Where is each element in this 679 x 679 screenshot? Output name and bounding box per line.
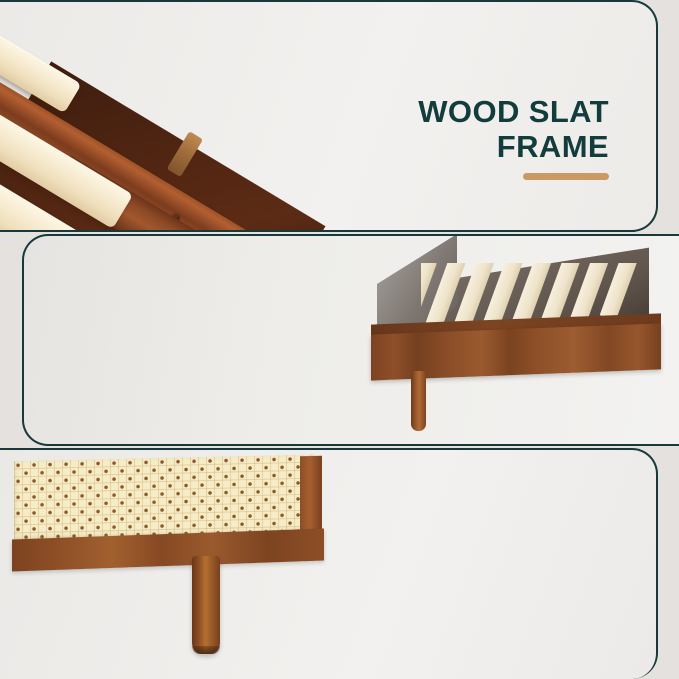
bed-slat	[600, 263, 647, 321]
feature-card-sturdy-construction: STURDY CONSTRUCTION	[22, 234, 679, 446]
rattan-cane-webbing-panel	[14, 455, 314, 542]
photo-bed-frame-side	[349, 241, 679, 446]
accent-underline	[523, 173, 609, 180]
feature-card-wood-slat-frame: WOOD SLAT FRAME	[0, 0, 658, 232]
photo-rattan-headboard	[0, 454, 345, 679]
caption-wood-slat-frame: WOOD SLAT FRAME	[418, 94, 609, 180]
infographic-root: WOOD SLAT FRAME STURDY	[0, 0, 679, 679]
sleek-round-leg	[192, 556, 220, 654]
caption-line: FRAME	[418, 129, 609, 164]
caption-line: WOOD SLAT	[418, 94, 609, 129]
feature-card-sleek-round-legs: SLEEK ROUND LEGS	[0, 448, 658, 679]
bed-round-leg	[411, 371, 426, 431]
photo-wood-slat-closeup	[0, 2, 340, 232]
